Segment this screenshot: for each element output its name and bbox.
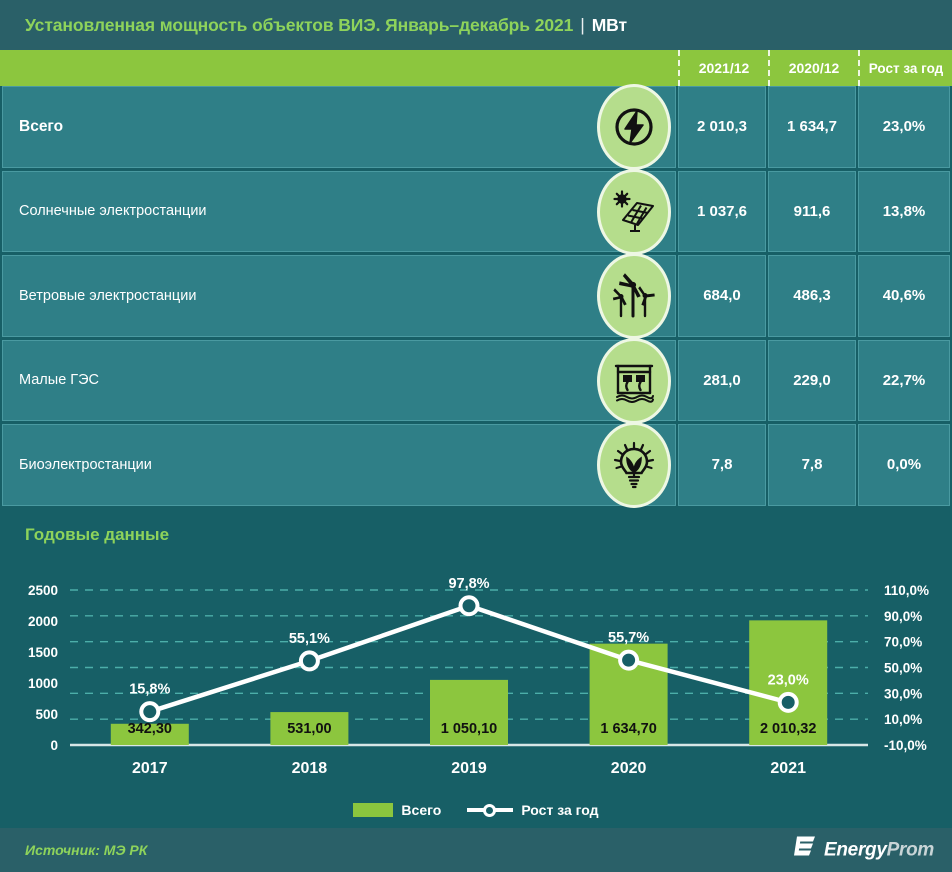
chart-marker xyxy=(780,694,797,711)
cell-2020: 911,6 xyxy=(768,171,856,253)
row-label: Биоэлектростанции xyxy=(19,457,152,473)
annual-section-title: Годовые данные xyxy=(25,525,169,545)
line-value-label: 97,8% xyxy=(448,576,489,592)
category-label: 2018 xyxy=(292,760,328,777)
page-title: Установленная мощность объектов ВИЭ. Янв… xyxy=(25,15,627,36)
category-label: 2020 xyxy=(611,760,647,777)
source-label: Источник: МЭ РК xyxy=(25,842,147,858)
cell-growth: 0,0% xyxy=(858,424,950,506)
right-axis-tick-label: -10,0% xyxy=(884,738,927,753)
bar-value-label: 2 010,32 xyxy=(760,721,816,737)
table-row: Всего 2 010,3 1 634,7 23,0% xyxy=(0,86,952,171)
category-label: 2019 xyxy=(451,760,487,777)
cell-growth: 13,8% xyxy=(858,171,950,253)
cell-growth: 22,7% xyxy=(858,340,950,422)
category-label: 2021 xyxy=(770,760,806,777)
chart-marker xyxy=(461,597,478,614)
table-row: Малые ГЭС xyxy=(0,340,952,425)
legend-item-line: Рост за год xyxy=(467,802,598,818)
title-bar: Установленная мощность объектов ВИЭ. Янв… xyxy=(0,0,952,50)
cell-2020: 1 634,7 xyxy=(768,86,856,168)
legend-label-growth: Рост за год xyxy=(521,802,598,818)
brand-secondary: Prom xyxy=(887,839,934,860)
right-axis-tick-label: 90,0% xyxy=(884,609,922,624)
right-axis-tick-label: 70,0% xyxy=(884,635,922,650)
left-axis-tick-label: 0 xyxy=(50,738,58,753)
chart-legend: Всего Рост за год xyxy=(0,795,952,825)
bar-value-label: 1 634,70 xyxy=(600,721,656,737)
table-row: Солнечные электростанции xyxy=(0,171,952,256)
bio-bulb-icon xyxy=(597,422,671,508)
footer-bar: Источник: МЭ РК EnergyProm xyxy=(0,828,952,872)
table-header: 2021/12 2020/12 Рост за год xyxy=(0,50,952,86)
right-axis-tick-label: 30,0% xyxy=(884,686,922,701)
line-value-label: 15,8% xyxy=(129,682,170,698)
title-separator: | xyxy=(580,15,584,35)
cell-2021: 684,0 xyxy=(678,255,766,337)
row-label-cell: Всего xyxy=(2,86,676,168)
bar-value-label: 1 050,10 xyxy=(441,721,497,737)
annual-chart: 05001000150020002500-10,0%10,0%30,0%50,0… xyxy=(0,560,952,810)
hydro-dam-icon xyxy=(597,338,671,424)
cell-2020: 229,0 xyxy=(768,340,856,422)
cell-2020: 7,8 xyxy=(768,424,856,506)
cell-growth: 23,0% xyxy=(858,86,950,168)
table-row: Биоэлектростанции xyxy=(0,424,952,509)
legend-item-bars: Всего xyxy=(353,802,441,818)
left-axis-tick-label: 2000 xyxy=(28,614,58,629)
energyprom-mark-icon xyxy=(793,835,817,866)
row-label-cell: Ветровые электростанции xyxy=(2,255,676,337)
left-axis-tick-label: 500 xyxy=(35,707,58,722)
chart-marker xyxy=(620,652,637,669)
line-value-label: 23,0% xyxy=(768,672,809,688)
legend-line-icon xyxy=(467,803,513,817)
left-axis-tick-label: 1000 xyxy=(28,676,58,691)
lightning-bolt-icon xyxy=(597,84,671,170)
infographic-page: Установленная мощность объектов ВИЭ. Янв… xyxy=(0,0,952,872)
table-body: Всего 2 010,3 1 634,7 23,0% Солнечные эл… xyxy=(0,86,952,509)
wind-turbine-icon xyxy=(597,253,671,339)
line-value-label: 55,7% xyxy=(608,630,649,646)
legend-label-total: Всего xyxy=(401,802,441,818)
row-label-cell: Малые ГЭС xyxy=(2,340,676,422)
left-axis-tick-label: 1500 xyxy=(28,645,58,660)
row-label-cell: Биоэлектростанции xyxy=(2,424,676,506)
bar-value-label: 531,00 xyxy=(287,721,331,737)
page-title-main: Установленная мощность объектов ВИЭ. Янв… xyxy=(25,15,573,35)
brand-primary: Energy xyxy=(824,839,887,860)
title-unit: МВт xyxy=(592,15,627,35)
row-label: Малые ГЭС xyxy=(19,372,99,388)
line-value-label: 55,1% xyxy=(289,631,330,647)
category-label: 2017 xyxy=(132,760,168,777)
left-axis-tick-label: 2500 xyxy=(28,583,58,598)
row-label-cell: Солнечные электростанции xyxy=(2,171,676,253)
cell-2021: 1 037,6 xyxy=(678,171,766,253)
bar-value-label: 342,30 xyxy=(128,721,172,737)
right-axis-tick-label: 10,0% xyxy=(884,712,922,727)
cell-growth: 40,6% xyxy=(858,255,950,337)
cell-2021: 2 010,3 xyxy=(678,86,766,168)
cell-2020: 486,3 xyxy=(768,255,856,337)
right-axis-tick-label: 110,0% xyxy=(884,583,929,598)
row-label: Солнечные электростанции xyxy=(19,203,207,219)
chart-marker xyxy=(301,652,318,669)
column-header-2020: 2020/12 xyxy=(768,50,858,86)
right-axis-tick-label: 50,0% xyxy=(884,661,922,676)
table-row: Ветровые электростанции xyxy=(0,255,952,340)
column-header-growth: Рост за год xyxy=(858,50,952,86)
solar-panel-icon xyxy=(597,169,671,255)
chart-marker xyxy=(141,703,158,720)
row-label: Ветровые электростанции xyxy=(19,288,196,304)
brand-text: EnergyProm xyxy=(824,839,934,861)
row-label: Всего xyxy=(19,118,63,136)
legend-swatch-icon xyxy=(353,803,393,817)
cell-2021: 7,8 xyxy=(678,424,766,506)
column-header-2021: 2021/12 xyxy=(678,50,768,86)
energyprom-logo: EnergyProm xyxy=(793,835,934,866)
cell-2021: 281,0 xyxy=(678,340,766,422)
